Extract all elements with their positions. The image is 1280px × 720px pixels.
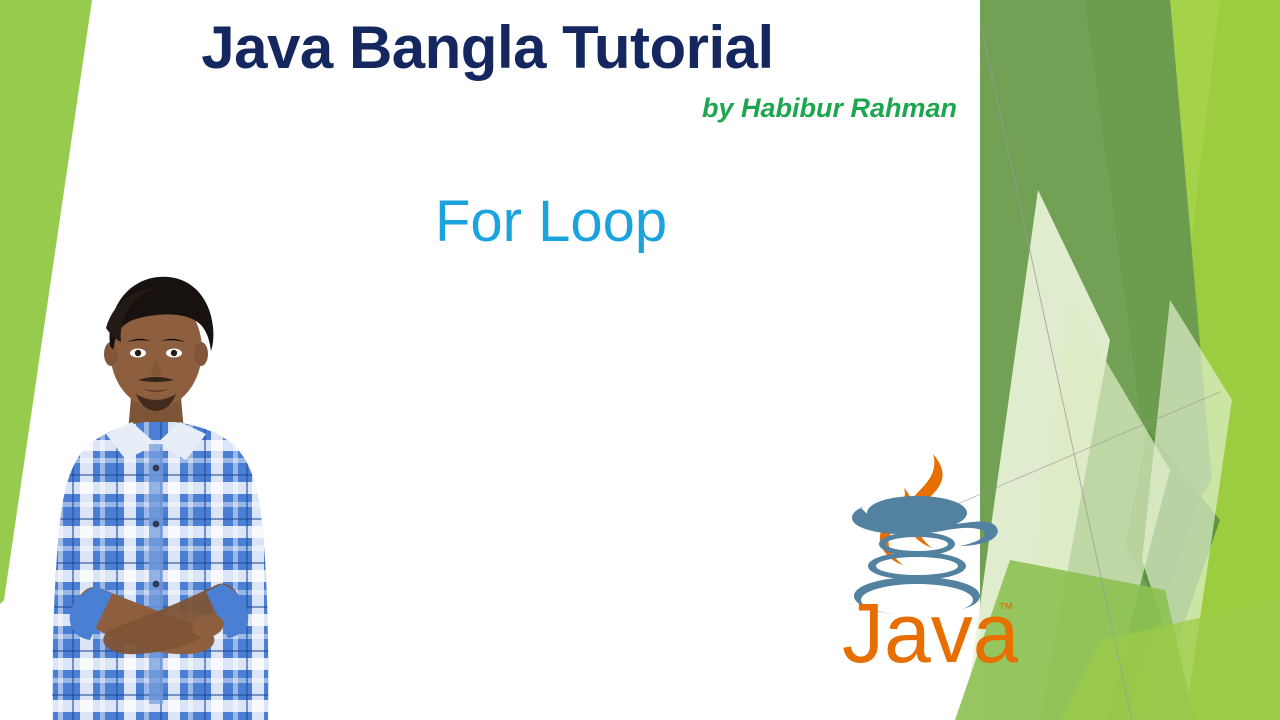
page-title: Java Bangla Tutorial [0,16,975,79]
polygon-lime-far-right [1070,0,1280,720]
presentation-slide: Java Bangla Tutorial by Habibur Rahman F… [0,0,1280,720]
topic-heading: For Loop [435,190,667,254]
polygon-sage-dark [1085,0,1212,560]
polygon-lime-right-2 [1135,0,1280,720]
polygon-light-green-bottom [1060,600,1280,720]
java-trademark-symbol: ™ [998,601,1014,618]
polygon-dark-green-lower [1125,430,1220,640]
pupil-left [135,350,141,356]
shirt-button-3 [153,581,160,588]
topic-block: For Loop [435,190,667,254]
title-block: Java Bangla Tutorial by Habibur Rahman [0,16,975,124]
shirt-placket [149,444,163,704]
java-logo: Java ™ [838,448,1018,670]
java-wordmark-text: Java [842,586,1018,670]
shirt-button-1 [153,465,160,472]
java-wordmark: Java ™ [842,586,1018,670]
ear-right [194,342,208,366]
shirt-button-2 [153,521,160,528]
pupil-right [171,350,177,356]
polygon-pale-right [1142,300,1232,700]
author-subtitle: by Habibur Rahman [0,93,975,124]
presenter-photo [28,254,290,720]
polygon-pale-mid [1015,300,1170,720]
